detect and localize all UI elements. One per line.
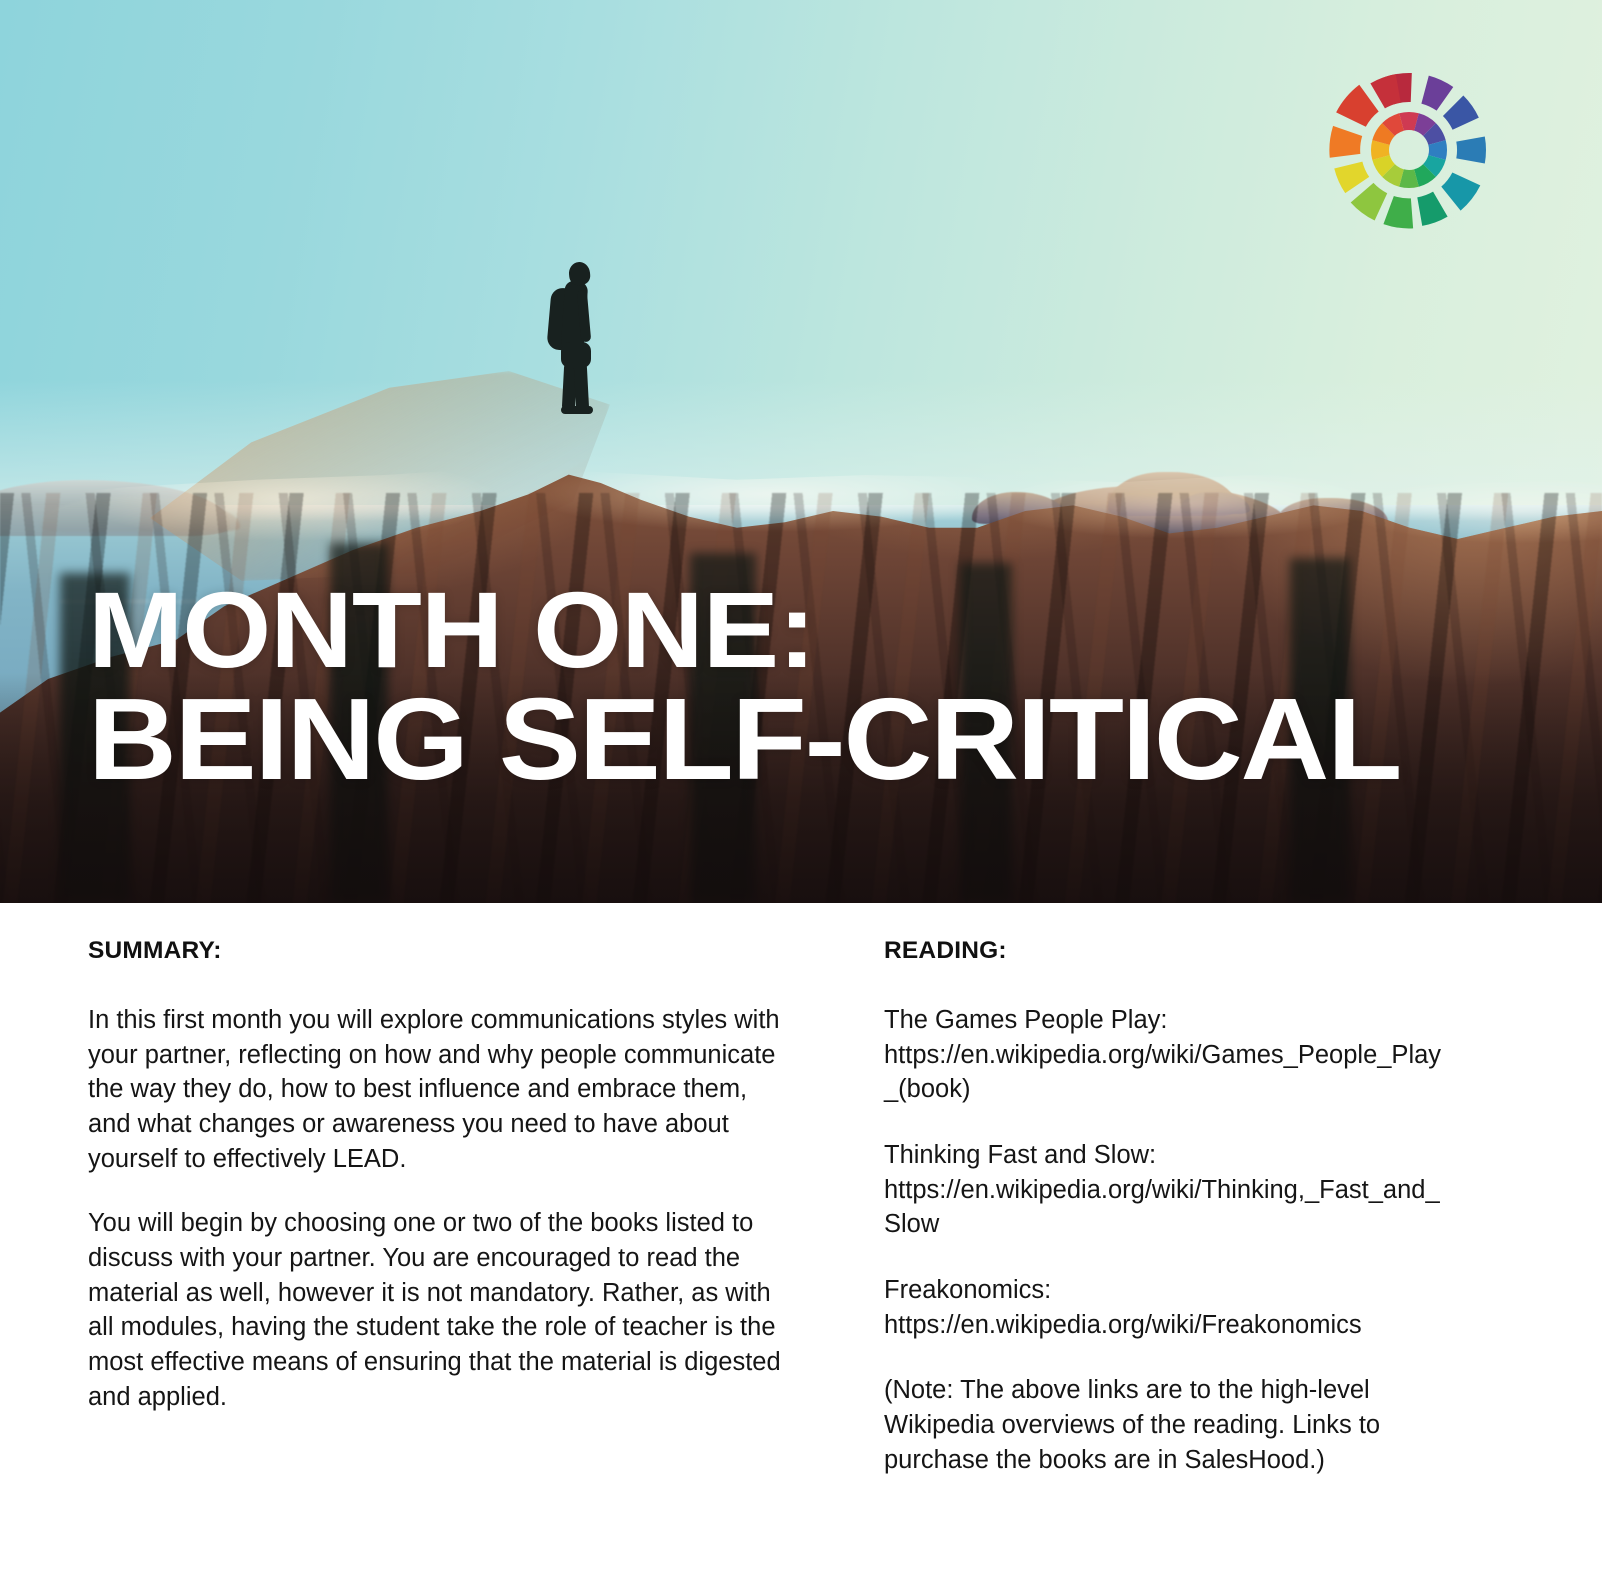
hiker-silhouette [543, 262, 603, 414]
reading-item[interactable]: The Games People Play: https://en.wikipe… [884, 1003, 1450, 1107]
content-area: SUMMARY: In this first month you will ex… [0, 903, 1602, 1580]
logo-outer-ring [1328, 72, 1486, 230]
reading-note: (Note: The above links are to the high-l… [884, 1373, 1450, 1477]
reading-item[interactable]: Freakonomics: https://en.wikipedia.org/w… [884, 1273, 1450, 1342]
summary-heading: SUMMARY: [88, 937, 788, 965]
hero-banner: MONTH ONE: BEING SELF-CRITICAL [0, 0, 1602, 903]
summary-paragraph: In this first month you will explore com… [88, 1003, 788, 1176]
page-title: MONTH ONE: BEING SELF-CRITICAL [88, 578, 1593, 795]
reading-column: READING: The Games People Play: https://… [884, 937, 1450, 1477]
hiker-head [568, 261, 591, 286]
summary-column: SUMMARY: In this first month you will ex… [88, 937, 788, 1414]
title-line-2: BEING SELF-CRITICAL [88, 683, 1593, 796]
title-line-1: MONTH ONE: [88, 578, 1593, 683]
summary-paragraph: You will begin by choosing one or two of… [88, 1206, 788, 1414]
logo-inner-ring [1367, 108, 1450, 191]
reading-item[interactable]: Thinking Fast and Slow: https://en.wikip… [884, 1138, 1450, 1242]
color-wheel-logo [1316, 62, 1502, 238]
hiker-foot [561, 406, 593, 414]
reading-heading: READING: [884, 937, 1450, 965]
